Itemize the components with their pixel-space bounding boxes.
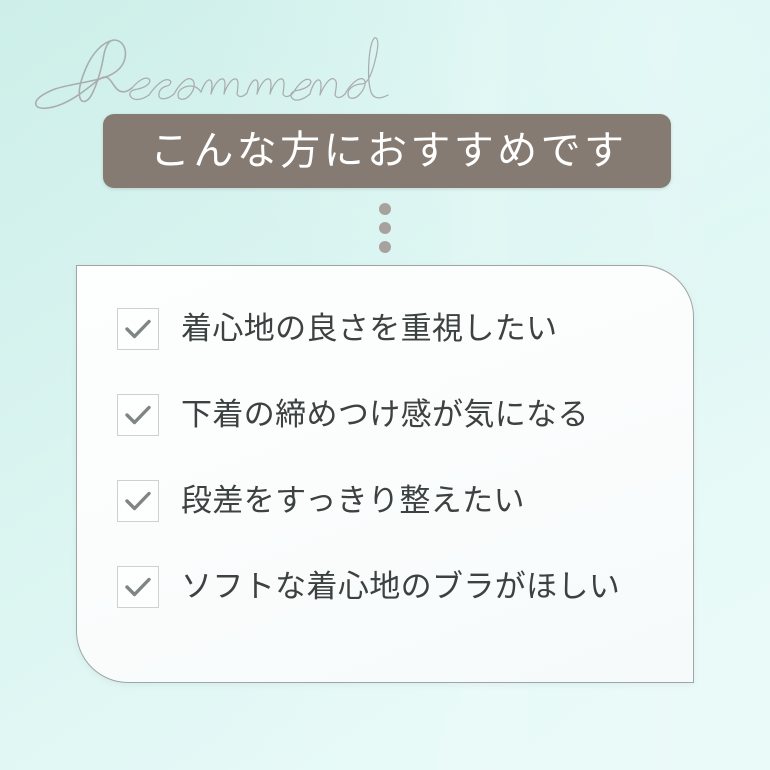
divider-dot <box>379 222 391 234</box>
checkbox-checked-icon[interactable] <box>117 480 159 522</box>
script-letter-o <box>174 79 201 100</box>
list-item-label: 下着の締めつけ感が気になる <box>181 399 589 432</box>
recommend-banner: Recommend こんな方におすすめです <box>0 0 770 770</box>
list-item-label: ソフトな着心地のブラがほしい <box>181 571 620 604</box>
script-letter-e1 <box>130 78 150 99</box>
list-item-label: 段差をすっきり整えたい <box>181 485 525 518</box>
script-letter-R <box>36 40 132 108</box>
list-item[interactable]: 下着の締めつけ感が気になる <box>117 394 673 436</box>
script-letter-c <box>149 80 174 99</box>
recommend-card: 着心地の良さを重視したい 下着の締めつけ感が気になる 段差をすっきり整えたい <box>76 265 694 683</box>
checkbox-checked-icon[interactable] <box>117 308 159 350</box>
divider-dots <box>0 203 770 253</box>
headline-bar: こんな方におすすめです <box>103 114 671 188</box>
checkbox-checked-icon[interactable] <box>117 566 159 608</box>
list-item[interactable]: ソフトな着心地のブラがほしい <box>117 566 673 608</box>
list-item[interactable]: 段差をすっきり整えたい <box>117 480 673 522</box>
list-item-label: 着心地の良さを重視したい <box>181 313 557 346</box>
checkbox-checked-icon[interactable] <box>117 394 159 436</box>
list-item[interactable]: 着心地の良さを重視したい <box>117 308 673 350</box>
script-letter-n <box>310 79 345 98</box>
script-heading-recommend: Recommend <box>28 28 428 120</box>
script-letter-d <box>345 38 388 99</box>
headline-text: こんな方におすすめです <box>147 131 628 171</box>
divider-dot <box>379 241 391 253</box>
divider-dot <box>379 203 391 215</box>
script-letter-e2 <box>291 79 311 100</box>
checklist: 着心地の良さを重視したい 下着の締めつけ感が気になる 段差をすっきり整えたい <box>117 308 673 608</box>
script-letter-m1 <box>201 79 247 97</box>
script-letter-m2 <box>247 79 293 97</box>
